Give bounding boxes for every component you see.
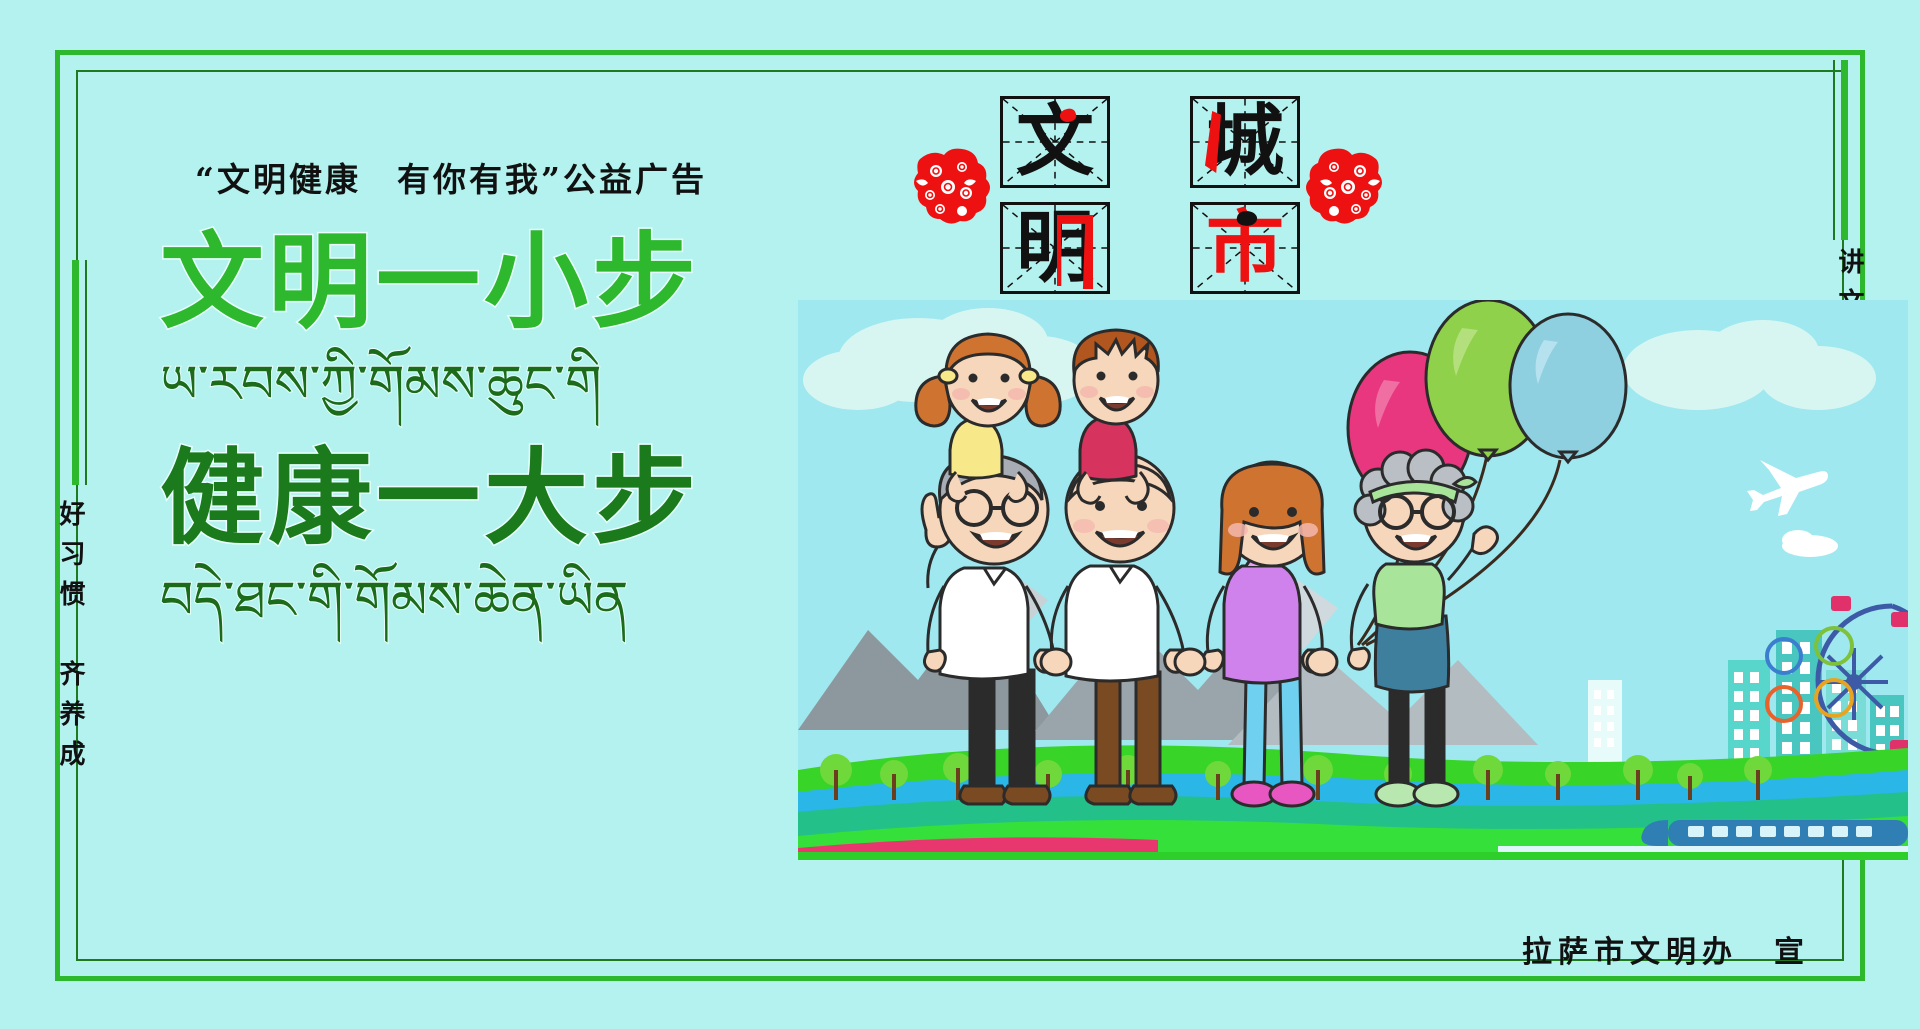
illustration-svg [798,300,1908,860]
right-vertical-rule-thick [1841,60,1848,240]
slogan-line1-tibetan: ཡ་རབས་ཀྱི་གོམས་ཆུང་གི [160,353,780,418]
slogan-line1-chinese: 文明一小步 [160,228,780,337]
civilized-city-seal: 文 城 明 [1000,96,1300,296]
slogan-line2-tibetan: བདེ་ཐང་གི་གོམས་ཆེན་ཡིན [160,569,780,634]
papercut-left-icon [910,141,990,231]
left-vertical-slogan: 好习惯 齐养成 [52,500,89,780]
slogan-line2-chinese: 健康一大步 [160,444,780,553]
seal-cell-ming: 明 [1000,202,1110,294]
left-vertical-rule-thin [85,260,87,485]
seal-cell-wen: 文 [1000,96,1110,188]
seal-cell-shi: 市 [1190,202,1300,294]
right-vertical-rule-thin [1833,60,1835,240]
issuer-signature: 拉萨市文明办 宣 [1522,927,1810,971]
family-illustration [798,300,1908,860]
papercut-right-icon [1306,141,1386,231]
seal-char-0: 文 [1003,99,1107,185]
seal-cell-cheng: 城 [1190,96,1300,188]
campaign-kicker: “文明健康 有你有我”公益广告 [195,153,707,201]
slogan-block: 文明一小步 ཡ་རབས་ཀྱི་གོམས་ཆུང་གི 健康一大步 བདེ་ཐང… [160,228,780,634]
poster-canvas: “文明健康 有你有我”公益广告 文明一小步 ཡ་རབས་ཀྱི་གོམས་ཆུང… [0,0,1920,1029]
left-vertical-rule-thick [72,260,79,485]
